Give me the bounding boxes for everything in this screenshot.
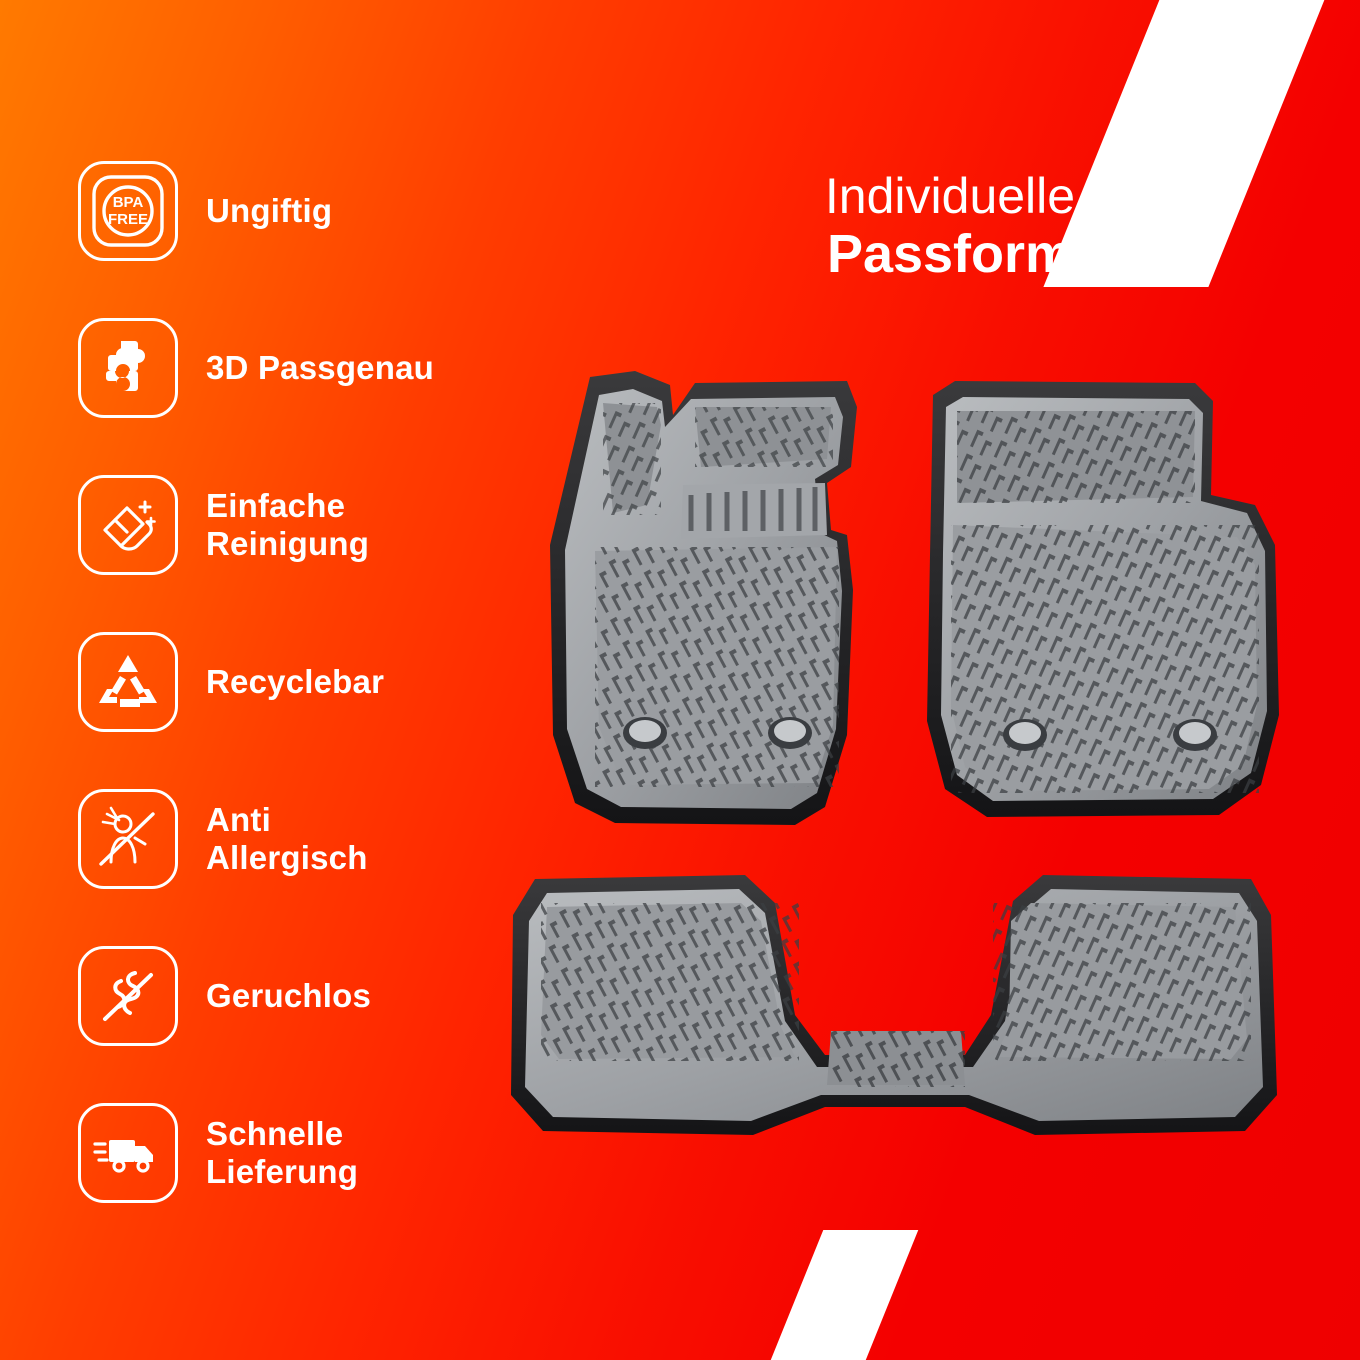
feature-item-schnelle-lieferung: Schnelle Lieferung <box>78 1097 548 1209</box>
feature-label: Ungiftig <box>206 192 332 230</box>
cleaning-hand-icon <box>78 475 178 575</box>
recycle-icon <box>78 632 178 732</box>
delivery-truck-icon <box>78 1103 178 1203</box>
feature-label: Recyclebar <box>206 663 384 701</box>
page-title: Individuelle Passform <box>640 168 1260 284</box>
title-line-1: Individuelle <box>640 168 1260 224</box>
no-smell-icon <box>78 946 178 1046</box>
rear-bench-mat <box>511 875 1277 1135</box>
feature-label: Schnelle Lieferung <box>206 1115 358 1191</box>
front-driver-mat <box>550 371 857 825</box>
feature-label: 3D Passgenau <box>206 349 434 387</box>
svg-text:FREE: FREE <box>108 211 148 228</box>
feature-item-geruchlos: Geruchlos <box>78 940 548 1052</box>
product-image <box>495 355 1295 1175</box>
feature-item-recyclebar: Recyclebar <box>78 626 548 738</box>
feature-label: Einfache Reinigung <box>206 487 369 563</box>
title-line-2: Passform <box>640 224 1260 284</box>
front-passenger-mat <box>927 381 1279 817</box>
feature-item-ungiftig: BPA FREE Ungiftig <box>78 155 548 267</box>
svg-text:BPA: BPA <box>113 194 144 211</box>
puzzle-piece-icon <box>78 318 178 418</box>
feature-list: BPA FREE Ungiftig 3D Passgenau <box>78 155 548 1209</box>
feature-label: Anti Allergisch <box>206 801 368 877</box>
anti-allergy-icon <box>78 789 178 889</box>
feature-item-anti-allergisch: Anti Allergisch <box>78 783 548 895</box>
feature-item-einfache-reinigung: Einfache Reinigung <box>78 469 548 581</box>
feature-item-3d-passgenau: 3D Passgenau <box>78 312 548 424</box>
bpa-free-icon: BPA FREE <box>78 161 178 261</box>
feature-label: Geruchlos <box>206 977 371 1015</box>
decorative-slash-bottom <box>767 1230 919 1360</box>
promo-banner: BPA FREE Ungiftig 3D Passgenau <box>0 0 1360 1360</box>
